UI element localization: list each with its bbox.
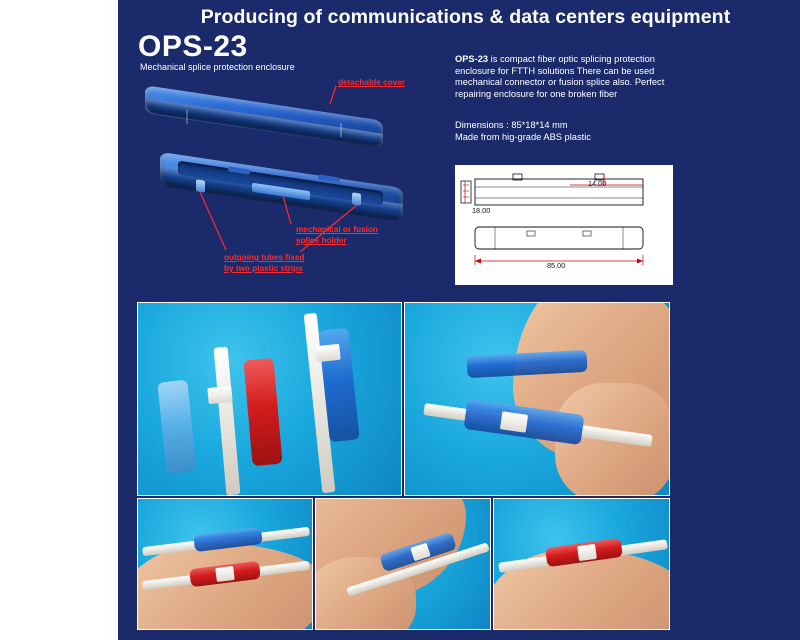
lid-rib bbox=[186, 110, 188, 124]
page-title: Producing of communications & data cente… bbox=[138, 6, 793, 29]
photo-hand-open-enclosure bbox=[404, 302, 670, 496]
splice-clip bbox=[577, 544, 597, 561]
splice-clip bbox=[500, 411, 528, 432]
callout-splice-holder-line2: splice holder bbox=[296, 236, 347, 246]
photo-products-trio bbox=[137, 302, 402, 496]
dim-width-label: 14.00 bbox=[588, 179, 606, 188]
callout-tubes-line1: outgoing tubes fixed bbox=[224, 253, 305, 263]
photo-hand-blue-closing bbox=[315, 498, 491, 630]
plastic-strip-left bbox=[196, 179, 205, 192]
product-specs: Dimensions : 85*18*14 mm Made from hig-g… bbox=[455, 120, 685, 143]
description-model-tag: OPS-23 bbox=[455, 54, 488, 64]
splice-clip-2 bbox=[315, 344, 341, 362]
photo-hand-two-cables bbox=[137, 498, 313, 630]
poster-page: Producing of communications & data cente… bbox=[0, 0, 800, 640]
technical-drawing: 14.00 18.00 85.00 bbox=[455, 165, 673, 285]
splice-clip bbox=[215, 566, 235, 582]
photo-hand-red-assembled bbox=[493, 498, 670, 630]
callout-detachable-cover: detachable cover bbox=[338, 78, 405, 88]
model-subtitle: Mechanical splice protection enclosure bbox=[140, 62, 295, 72]
callout-splice-holder-line1: mechanical or fusion bbox=[296, 225, 378, 235]
product-description: OPS-23 is compact fiber optic splicing p… bbox=[455, 54, 675, 100]
dim-length-label: 85.00 bbox=[547, 261, 565, 270]
plastic-strip-right bbox=[352, 192, 361, 205]
splice-clip-1 bbox=[207, 386, 232, 404]
specs-material: Made from hig-grade ABS plastic bbox=[455, 132, 685, 144]
hand-thumb bbox=[315, 557, 416, 630]
callout-tubes-line2: by two plastic strips bbox=[224, 264, 303, 274]
dim-height-label: 18.00 bbox=[472, 206, 490, 215]
model-name: OPS-23 bbox=[138, 30, 248, 64]
specs-dimensions: Dimensions : 85*18*14 mm bbox=[455, 120, 685, 132]
lid-rib bbox=[340, 123, 342, 137]
